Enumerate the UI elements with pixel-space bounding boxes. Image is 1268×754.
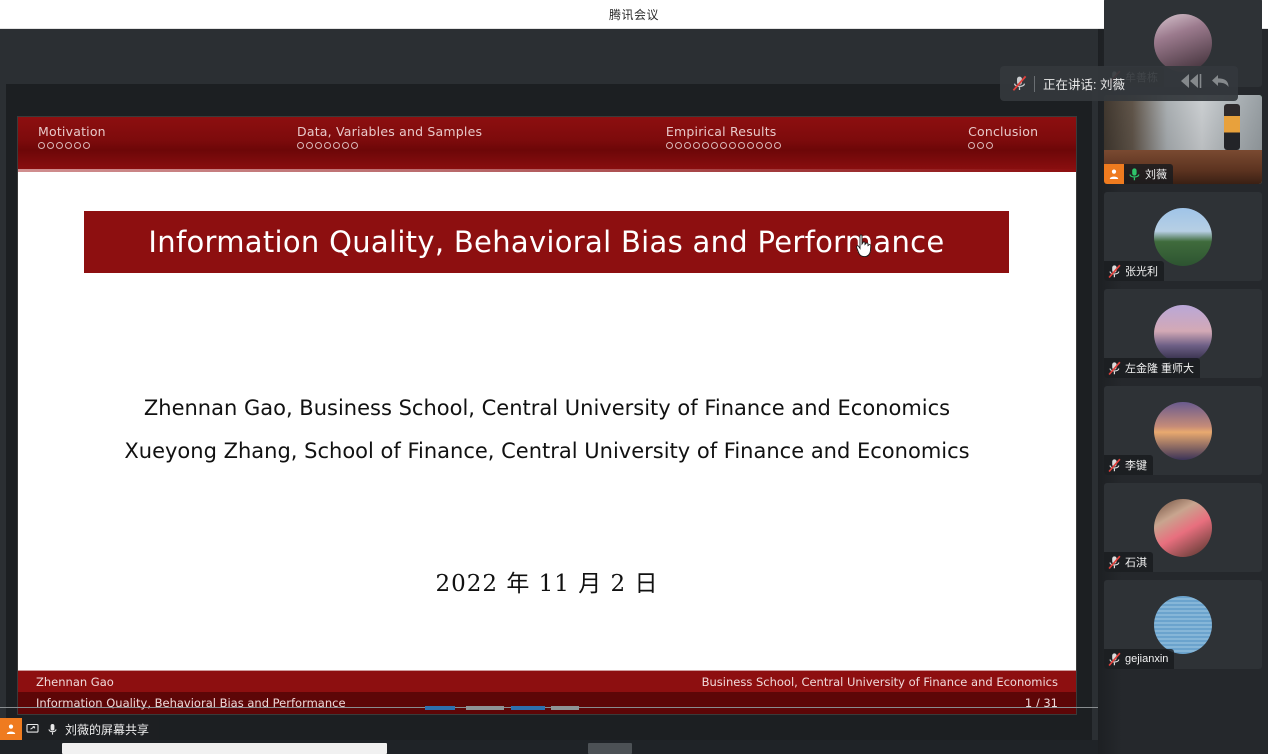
toolbar-divider	[1034, 76, 1035, 92]
nav-section-empirical-results[interactable]: Empirical Results	[666, 124, 968, 172]
slide-authors: Zhennan Gao, Business School, Central Un…	[18, 387, 1076, 473]
nav-dot[interactable]	[74, 142, 81, 149]
remote-taskbar-item[interactable]	[588, 743, 632, 754]
mic-muted-icon[interactable]	[1008, 75, 1030, 92]
participant-name: 左金隆 重师大	[1124, 360, 1194, 376]
mic-muted-icon[interactable]	[1104, 458, 1124, 473]
nav-dot[interactable]	[38, 142, 45, 149]
nav-dot[interactable]	[729, 142, 736, 149]
nav-section-data-variables-and-samples[interactable]: Data, Variables and Samples	[297, 124, 666, 172]
nav-dot[interactable]	[774, 142, 781, 149]
share-status-label: 刘薇的屏幕共享	[62, 721, 159, 738]
nav-dot[interactable]	[693, 142, 700, 149]
indicator-segment	[466, 706, 504, 710]
indicator-segment	[511, 706, 545, 710]
mic-muted-icon[interactable]	[1104, 652, 1124, 667]
tencent-meeting-window: 腾讯会议 Motivation	[0, 0, 1268, 754]
nav-section-title: Empirical Results	[666, 124, 968, 139]
participant-name: 张光利	[1124, 263, 1158, 279]
nav-dot[interactable]	[738, 142, 745, 149]
avatar	[1154, 596, 1212, 654]
participant-rail[interactable]: 牟善栋 刘薇	[1098, 29, 1268, 754]
nav-dot[interactable]	[747, 142, 754, 149]
host-person-icon	[1104, 164, 1124, 184]
mic-muted-icon[interactable]	[1104, 264, 1124, 279]
mic-muted-icon[interactable]	[1104, 361, 1124, 376]
nav-dot[interactable]	[56, 142, 63, 149]
nav-dot[interactable]	[83, 142, 90, 149]
screen-share-status-bar[interactable]: 刘薇的屏幕共享	[0, 718, 159, 740]
toolbar-actions	[1179, 73, 1230, 94]
avatar	[1154, 208, 1212, 266]
nav-dot[interactable]	[324, 142, 331, 149]
nav-dot[interactable]	[65, 142, 72, 149]
avatar	[1154, 14, 1212, 72]
nav-dot[interactable]	[977, 142, 984, 149]
participant-label: 张光利	[1104, 261, 1164, 281]
participant-tile-zuo-jinlong[interactable]: 左金隆 重师大	[1104, 289, 1262, 378]
nav-dot[interactable]	[720, 142, 727, 149]
avatar	[1154, 305, 1212, 363]
presentation-slide: Motivation Data, Variables and Samples	[18, 117, 1076, 714]
participant-name: 石淇	[1124, 554, 1147, 570]
remote-window-indicators	[0, 706, 1098, 710]
nav-section-dots	[968, 142, 1076, 149]
mic-muted-icon[interactable]	[1104, 555, 1124, 570]
footer-row-title: Information Quality, Behavioral Bias and…	[18, 692, 1076, 714]
mouse-cursor	[855, 234, 873, 263]
nav-section-title: Motivation	[38, 124, 297, 139]
slide-navigation-header: Motivation Data, Variables and Samples	[18, 117, 1076, 172]
participant-tile-shi-qi[interactable]: 石淇	[1104, 483, 1262, 572]
nav-dot[interactable]	[315, 142, 322, 149]
avatar	[1154, 402, 1212, 460]
nav-dot[interactable]	[986, 142, 993, 149]
nav-dot[interactable]	[765, 142, 772, 149]
slide-title: Information Quality, Behavioral Bias and…	[148, 225, 944, 259]
remote-search-box[interactable]	[62, 743, 387, 754]
nav-section-dots	[666, 142, 968, 149]
author-line-1: Zhennan Gao, Business School, Central Un…	[18, 387, 1076, 430]
nav-dot[interactable]	[675, 142, 682, 149]
nav-dot[interactable]	[684, 142, 691, 149]
mic-icon	[42, 723, 62, 736]
nav-dot[interactable]	[711, 142, 718, 149]
nav-dot[interactable]	[351, 142, 358, 149]
speaking-status-toolbar[interactable]: 正在讲话: 刘薇	[1000, 66, 1238, 101]
nav-section-conclusion[interactable]: Conclusion	[968, 124, 1076, 172]
author-line-2: Xueyong Zhang, School of Finance, Centra…	[18, 430, 1076, 473]
participant-label: 左金隆 重师大	[1104, 358, 1200, 378]
participant-label: 李键	[1104, 455, 1153, 475]
participant-tile-liu-wei[interactable]: 刘薇	[1104, 95, 1262, 184]
nav-section-title: Conclusion	[968, 124, 1076, 139]
nav-dot[interactable]	[702, 142, 709, 149]
participant-tile-zhang-guangli[interactable]: 张光利	[1104, 192, 1262, 281]
participant-label: 石淇	[1104, 552, 1153, 572]
nav-section-dots	[297, 142, 666, 149]
title-bar: 腾讯会议	[0, 0, 1268, 29]
screen-share-stage: Motivation Data, Variables and Samples	[0, 29, 1098, 754]
nav-section-dots	[38, 142, 297, 149]
speaking-status-text: 正在讲话: 刘薇	[1043, 74, 1179, 93]
nav-dot[interactable]	[297, 142, 304, 149]
participant-tile-gejianxin[interactable]: gejianxin	[1104, 580, 1262, 669]
nav-dot[interactable]	[756, 142, 763, 149]
mic-active-icon[interactable]	[1124, 167, 1144, 182]
footer-author: Zhennan Gao	[36, 675, 114, 689]
nav-dot[interactable]	[306, 142, 313, 149]
collapse-arrows-icon[interactable]	[1179, 73, 1205, 94]
participant-name: 李键	[1124, 457, 1147, 473]
participant-name: 刘薇	[1144, 166, 1167, 182]
remote-taskbar	[0, 740, 1098, 754]
footer-row-author: Zhennan Gao Business School, Central Uni…	[18, 670, 1076, 692]
nav-section-motivation[interactable]: Motivation	[38, 124, 297, 172]
avatar	[1154, 499, 1212, 557]
nav-dot[interactable]	[333, 142, 340, 149]
footer-affiliation: Business School, Central University of F…	[702, 675, 1058, 689]
participant-name: gejianxin	[1124, 653, 1168, 665]
indicator-segment	[425, 706, 455, 710]
window-title: 腾讯会议	[609, 6, 659, 23]
participant-label: 刘薇	[1104, 164, 1173, 184]
nav-dot[interactable]	[968, 142, 975, 149]
participant-tile-li-jian[interactable]: 李键	[1104, 386, 1262, 475]
nav-dot[interactable]	[47, 142, 54, 149]
indicator-segment	[551, 706, 579, 710]
slide-body: Information Quality, Behavioral Bias and…	[18, 172, 1076, 679]
participant-label: gejianxin	[1104, 649, 1174, 669]
nav-dot[interactable]	[342, 142, 349, 149]
screen-share-icon	[22, 723, 42, 735]
slide-date: 2022 年 11 月 2 日	[18, 564, 1076, 598]
host-person-icon	[0, 718, 22, 740]
return-arrow-icon[interactable]	[1211, 73, 1230, 94]
nav-dot[interactable]	[666, 142, 673, 149]
nav-section-title: Data, Variables and Samples	[297, 124, 666, 139]
